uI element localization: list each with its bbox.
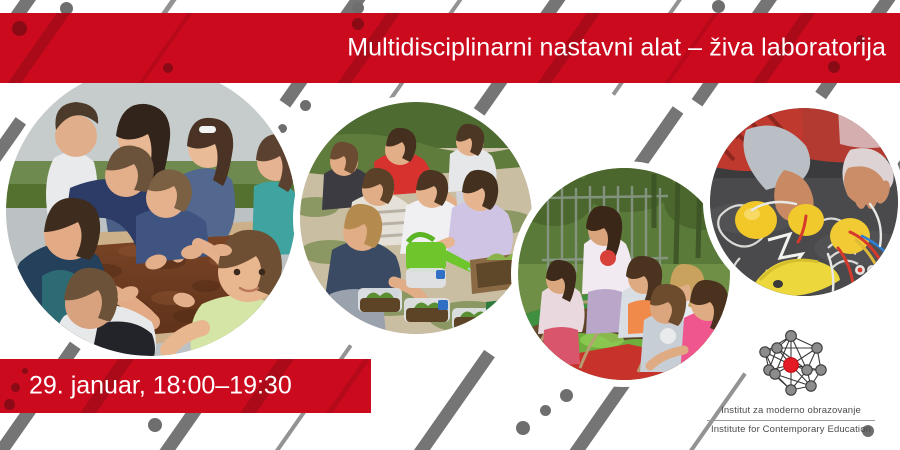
title-bar: Multidisciplinarni nastavni alat – živa … (0, 13, 900, 83)
diagonal-stripe (398, 350, 495, 450)
logo-divider (707, 420, 875, 421)
decor-dot (148, 418, 162, 432)
diagonal-stripe (292, 359, 371, 413)
banner-title: Multidisciplinarni nastavni alat – živa … (347, 34, 886, 63)
photo-1-illustration (6, 66, 296, 356)
logo-name-sr: Institut za moderno obrazovanje (700, 404, 882, 419)
decor-dot (300, 100, 311, 111)
photo-2-illustration (300, 102, 532, 334)
decor-dot (828, 61, 840, 73)
photo-3-illustration (518, 168, 730, 380)
decor-dot (352, 18, 364, 30)
decor-dot (12, 21, 27, 36)
date-badge: 29. januar, 18:00–19:30 (0, 359, 371, 413)
decor-dot (11, 383, 20, 392)
promo-banner: Multidisciplinarni nastavni alat – živa … (0, 0, 900, 450)
logo-name-en: Institute for Contemporary Education (700, 423, 882, 438)
decor-dot (540, 405, 551, 416)
decor-dot (560, 389, 573, 402)
photo-4-illustration (710, 108, 898, 296)
decor-dot (516, 421, 530, 435)
organization-logo: Institut za moderno obrazovanje Institut… (700, 326, 882, 438)
decor-dot (4, 399, 15, 410)
photo-children-in-garden (518, 168, 730, 380)
diagonal-stripe (114, 13, 209, 83)
photo-children-raised-garden-bed (6, 66, 296, 356)
decor-dot (163, 63, 173, 73)
decor-dot (22, 368, 28, 374)
decor-dot (278, 124, 287, 133)
event-date-time: 29. januar, 18:00–19:30 (29, 372, 292, 401)
network-nodes-icon (745, 326, 837, 404)
decor-dot (712, 0, 725, 13)
photo-fruit-circuit-experiment (710, 108, 898, 296)
photo-children-planting-bottles (300, 102, 532, 334)
